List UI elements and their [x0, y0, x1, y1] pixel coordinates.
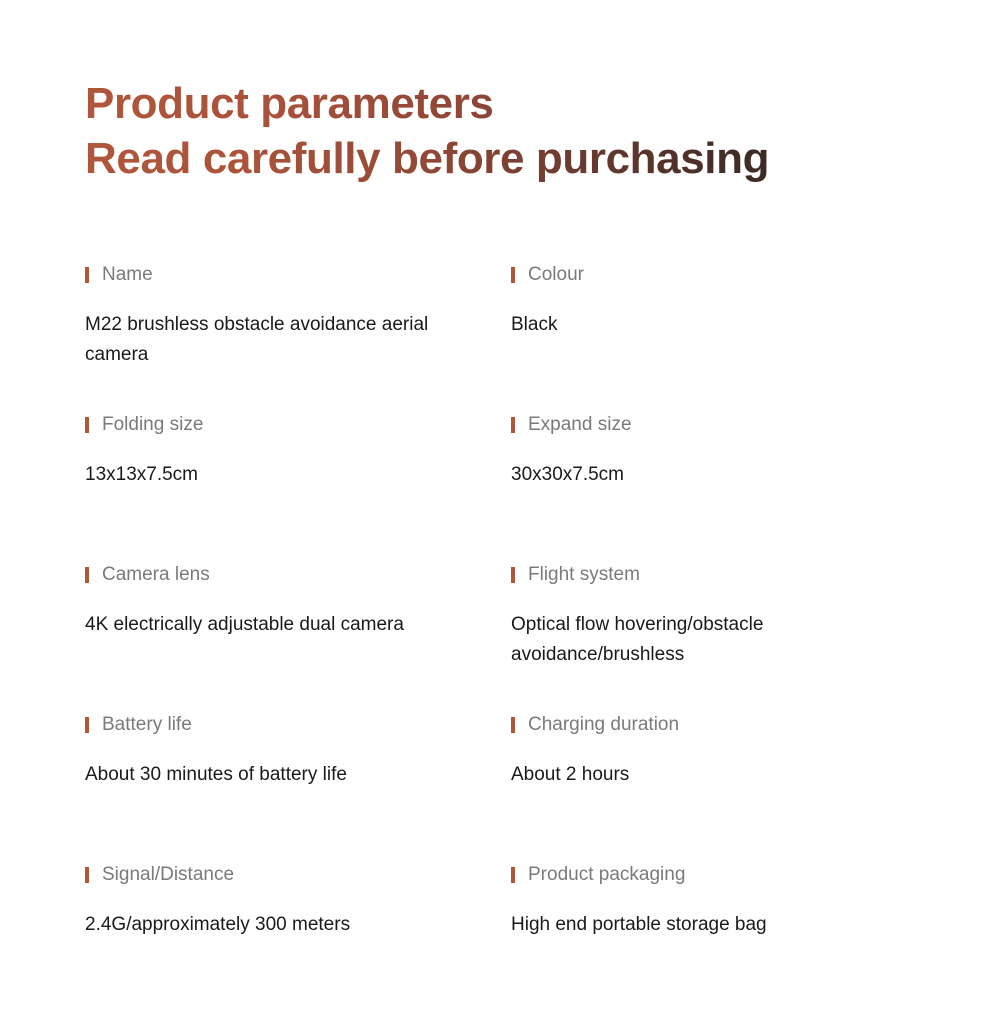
spec-label: Product packaging — [528, 864, 685, 886]
spec-label: Camera lens — [102, 564, 210, 586]
spec-label-wrap: Name — [85, 262, 511, 288]
spec-item-charging-duration: Charging duration About 2 hours — [511, 712, 937, 862]
spec-label: Flight system — [528, 564, 640, 586]
spec-item-expand-size: Expand size 30x30x7.5cm — [511, 412, 937, 562]
product-parameters-page: Product parameters Read carefully before… — [0, 0, 1000, 1000]
spec-grid: Name M22 brushless obstacle avoidance ae… — [85, 262, 945, 1012]
heading-line-2: Read carefully before purchasing — [85, 131, 945, 186]
accent-bar-icon — [85, 867, 89, 883]
spec-value: High end portable storage bag — [511, 910, 911, 940]
spec-value: 30x30x7.5cm — [511, 460, 911, 490]
spec-label-wrap: Flight system — [511, 562, 937, 588]
accent-bar-icon — [511, 867, 515, 883]
page-heading: Product parameters Read carefully before… — [85, 76, 945, 186]
spec-value: 2.4G/approximately 300 meters — [85, 910, 485, 940]
spec-value: Black — [511, 310, 911, 340]
accent-bar-icon — [511, 417, 515, 433]
spec-item-battery-life: Battery life About 30 minutes of battery… — [85, 712, 511, 862]
accent-bar-icon — [85, 267, 89, 283]
spec-label: Name — [102, 264, 153, 286]
spec-value: 4K electrically adjustable dual camera — [85, 610, 485, 640]
spec-label: Expand size — [528, 414, 632, 436]
spec-label: Charging duration — [528, 714, 679, 736]
spec-item-colour: Colour Black — [511, 262, 937, 412]
spec-item-camera-lens: Camera lens 4K electrically adjustable d… — [85, 562, 511, 712]
spec-item-signal-distance: Signal/Distance 2.4G/approximately 300 m… — [85, 862, 511, 1012]
spec-label-wrap: Colour — [511, 262, 937, 288]
spec-label-wrap: Camera lens — [85, 562, 511, 588]
spec-label-wrap: Battery life — [85, 712, 511, 738]
spec-row: Battery life About 30 minutes of battery… — [85, 712, 945, 862]
spec-value: About 2 hours — [511, 760, 911, 790]
spec-label-wrap: Folding size — [85, 412, 511, 438]
spec-label-wrap: Product packaging — [511, 862, 937, 888]
spec-label: Folding size — [102, 414, 203, 436]
spec-item-name: Name M22 brushless obstacle avoidance ae… — [85, 262, 511, 412]
spec-label: Signal/Distance — [102, 864, 234, 886]
spec-label-wrap: Charging duration — [511, 712, 937, 738]
spec-label: Colour — [528, 264, 584, 286]
spec-label-wrap: Signal/Distance — [85, 862, 511, 888]
spec-value: About 30 minutes of battery life — [85, 760, 485, 790]
spec-value: Optical flow hovering/obstacle avoidance… — [511, 610, 911, 670]
spec-item-folding-size: Folding size 13x13x7.5cm — [85, 412, 511, 562]
spec-item-product-packaging: Product packaging High end portable stor… — [511, 862, 937, 1012]
spec-row: Signal/Distance 2.4G/approximately 300 m… — [85, 862, 945, 1012]
accent-bar-icon — [511, 567, 515, 583]
heading-line-1: Product parameters — [85, 76, 945, 131]
spec-row: Name M22 brushless obstacle avoidance ae… — [85, 262, 945, 412]
accent-bar-icon — [511, 267, 515, 283]
accent-bar-icon — [85, 567, 89, 583]
spec-label-wrap: Expand size — [511, 412, 937, 438]
accent-bar-icon — [85, 417, 89, 433]
spec-row: Folding size 13x13x7.5cm Expand size 30x… — [85, 412, 945, 562]
spec-item-flight-system: Flight system Optical flow hovering/obst… — [511, 562, 937, 712]
spec-row: Camera lens 4K electrically adjustable d… — [85, 562, 945, 712]
spec-value: M22 brushless obstacle avoidance aerial … — [85, 310, 485, 370]
accent-bar-icon — [511, 717, 515, 733]
spec-label: Battery life — [102, 714, 192, 736]
spec-value: 13x13x7.5cm — [85, 460, 485, 490]
accent-bar-icon — [85, 717, 89, 733]
